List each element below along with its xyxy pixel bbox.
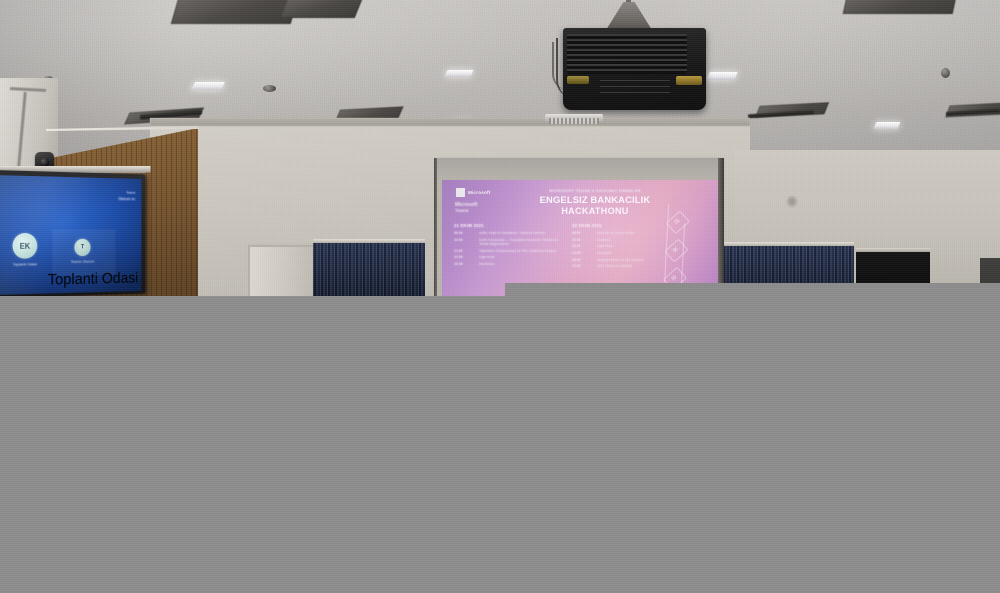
agenda-time: 09:30 — [454, 231, 476, 235]
agenda-row: 11:00 Takimlarin Olusturulmasi ve Fikir … — [454, 249, 564, 253]
ceiling-access-plate-grille — [549, 118, 599, 124]
smoke-detector — [941, 68, 950, 78]
projector-vent-grille — [567, 34, 687, 74]
ceiling-light — [874, 122, 901, 129]
ceiling-tile — [171, 0, 300, 24]
avatar: EK — [12, 233, 37, 259]
projector-lens — [676, 76, 702, 85]
tv-screen[interactable]: EK Toplanti Odasi T Teams Oturum Toplant… — [0, 175, 141, 295]
presentation-slide: Microsoft Microsoft Teams MICROSOFT TEAM… — [442, 180, 719, 296]
ceiling-tile — [280, 0, 366, 18]
agenda-time: 13:00 — [572, 244, 594, 248]
agenda-row: 10:00 Acilis Konusmasi — Hackathon Surec… — [454, 238, 564, 246]
slide-title-line1: ENGELSIZ BANKACILIK — [520, 194, 670, 205]
wall-mark — [787, 196, 797, 207]
screen-blank-area — [437, 158, 722, 180]
projection-screen: Microsoft Microsoft Teams MICROSOFT TEAM… — [437, 158, 722, 296]
slide-title-line2: HACKATHONU — [520, 206, 670, 216]
ceiling-light — [191, 82, 225, 90]
tv-corner-line2: Oturum Ac — [118, 196, 135, 201]
ceiling-tile — [843, 0, 958, 14]
agenda-time: 13:30 — [454, 262, 476, 266]
tv-corner-line1: Teams — [118, 191, 135, 195]
agenda-time: 12:30 — [454, 255, 476, 259]
agenda-time: 16:00 — [572, 258, 594, 262]
agenda-row: 13:30 Mentorluk — [454, 262, 564, 266]
agenda-time: 11:00 — [454, 249, 476, 253]
agenda-time: 14:00 — [572, 251, 594, 255]
account-name: Toplanti Odasi — [13, 261, 37, 266]
screenshot-root: Microsoft Microsoft Teams MICROSOFT TEAM… — [0, 0, 1000, 593]
agenda-row: 12:30 Ogle Arasi — [454, 255, 564, 259]
microsoft-logo-text: Microsoft — [468, 190, 490, 195]
ribbon-mark: IS — [666, 210, 690, 234]
projector-port — [567, 76, 589, 84]
agenda-desc: Takimlarin Olusturulmasi ve Fikir Gelist… — [479, 249, 564, 253]
screen-bezel-right — [718, 158, 724, 296]
agenda-desc: Acilis Konusmasi — Hackathon Surecinin T… — [479, 238, 564, 246]
agenda-time: 17:00 — [572, 264, 594, 268]
slide-kicker: MICROSOFT TEAMS & KATILIMCI FIRMALAR — [520, 188, 670, 193]
agenda-desc: Acilis, Kayit ve Karsilama / Tanisma Kah… — [479, 231, 564, 235]
agenda-time: 10:00 — [572, 238, 594, 242]
tv-corner-status: Teams Oturum Ac — [118, 191, 135, 202]
partner-logo: Microsoft Teams — [455, 202, 478, 214]
redacted-region-upper-right — [505, 283, 1000, 299]
microsoft-logo: Microsoft — [456, 188, 490, 197]
redacted-region-lower — [0, 296, 1000, 593]
agenda-desc: Mentorluk — [479, 262, 564, 266]
smoke-detector — [263, 85, 276, 92]
agenda-day-1-title: 21 EKIM 2021 — [454, 224, 564, 228]
partner-logo-line2: Teams — [455, 208, 478, 214]
slide-headline: MICROSOFT TEAMS & KATILIMCI FIRMALAR ENG… — [520, 188, 670, 216]
agenda-desc: Ogle Arasi — [479, 255, 564, 259]
account-tile-1[interactable]: EK Toplanti Odasi — [12, 233, 37, 267]
account-tile-2[interactable]: T Teams Oturum — [71, 239, 95, 264]
ceiling-light — [706, 72, 737, 80]
window-curtain-left — [313, 243, 425, 300]
agenda-time: 09:00 — [572, 231, 594, 235]
ceiling-light — [444, 70, 473, 77]
ribbon-bar — [663, 204, 669, 282]
wall-header-beam — [150, 118, 750, 126]
wall-mounted-tv[interactable]: EK Toplanti Odasi T Teams Oturum Toplant… — [0, 170, 146, 298]
agenda-time: 10:00 — [454, 238, 476, 246]
agenda-day-1: 21 EKIM 2021 09:30 Acilis, Kayit ve Kars… — [454, 224, 564, 268]
account-name: Teams Oturum — [71, 259, 95, 264]
avatar: T — [74, 239, 90, 256]
agenda-row: 09:30 Acilis, Kayit ve Karsilama / Tanis… — [454, 231, 564, 235]
ribbon-mark: IK — [664, 239, 688, 263]
signin-caption: Toplanti Odasi — [48, 270, 139, 289]
microsoft-squares-icon — [456, 188, 465, 197]
projector-brand-label — [600, 80, 670, 98]
door[interactable] — [248, 245, 315, 302]
